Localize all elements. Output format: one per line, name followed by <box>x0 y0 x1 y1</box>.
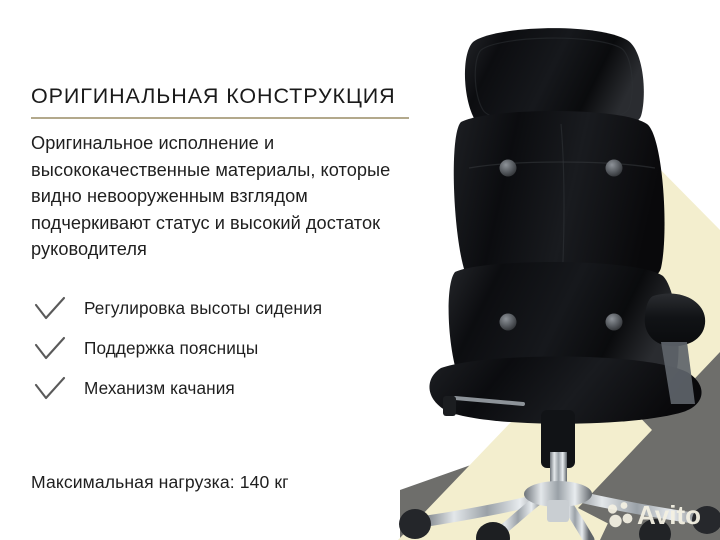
feature-label: Поддержка поясницы <box>84 340 258 357</box>
title-divider <box>31 117 409 119</box>
product-card: ОРИГИНАЛЬНАЯ КОНСТРУКЦИЯ Оригинальное ис… <box>0 0 720 540</box>
avito-watermark: Avito <box>604 497 714 531</box>
tuft-button <box>606 160 623 177</box>
tuft-button <box>500 160 517 177</box>
list-item: Механизм качания <box>33 369 433 409</box>
avito-dots-icon <box>608 502 633 527</box>
feature-label: Механизм качания <box>84 380 235 397</box>
tuft-button <box>606 314 623 331</box>
max-load-text: Максимальная нагрузка: 140 кг <box>31 474 289 492</box>
check-icon <box>33 334 67 364</box>
chair-armrest <box>645 293 705 346</box>
description-text: Оригинальное исполнение и высококачестве… <box>31 130 423 263</box>
list-item: Поддержка поясницы <box>33 329 433 369</box>
text-column: ОРИГИНАЛЬНАЯ КОНСТРУКЦИЯ Оригинальное ис… <box>0 0 440 540</box>
product-photo-office-chair <box>395 0 720 540</box>
page-title: ОРИГИНАЛЬНАЯ КОНСТРУКЦИЯ <box>31 86 396 108</box>
check-icon <box>33 374 67 404</box>
tuft-button <box>500 314 517 331</box>
list-item: Регулировка высоты сидения <box>33 289 433 329</box>
check-icon <box>33 294 67 324</box>
tilt-lever-knob <box>443 396 456 416</box>
avito-wordmark: Avito <box>637 500 701 530</box>
feature-label: Регулировка высоты сидения <box>84 300 322 317</box>
feature-list: Регулировка высоты сиденияПоддержка пояс… <box>33 289 433 409</box>
